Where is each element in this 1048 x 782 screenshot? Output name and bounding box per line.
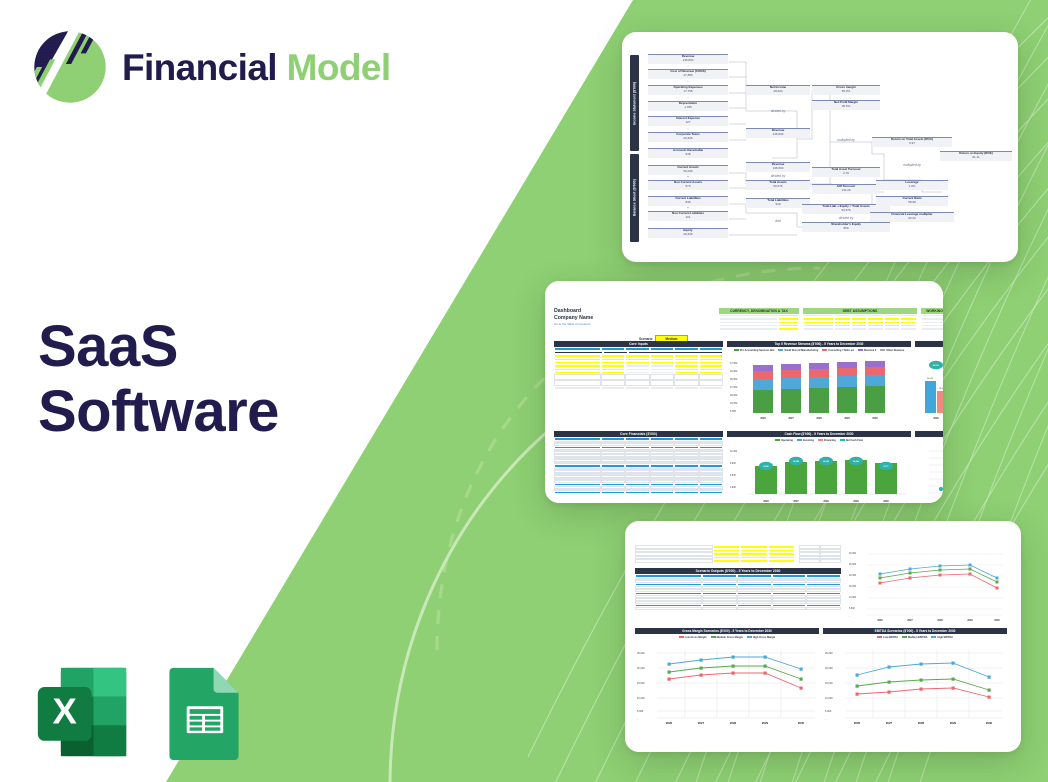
scenario-label: Scenario <box>639 337 652 341</box>
legend-item: Revenue 4 <box>858 349 877 352</box>
svg-text:-: - <box>730 416 731 419</box>
income-statement-band: Income Statement ($'000) <box>630 55 639 151</box>
operator-add: Add <box>746 219 810 223</box>
line-plot: 30,00025,00020,000 15,00010,0005,000- <box>847 545 1007 623</box>
operator-divided-by: divided by <box>746 109 810 113</box>
line-plot: 72,00057,00045,000 34,00022,00015,0005,0… <box>915 443 943 503</box>
svg-text:20,030: 20,030 <box>927 378 934 380</box>
dupont-node: Depreciation1,785 <box>648 101 728 111</box>
svg-text:5,000: 5,000 <box>730 410 737 413</box>
svg-text:2027: 2027 <box>886 721 893 725</box>
top-revenue-streams-chart: Top 5 Revenue Streams ($'000) - 5 Years … <box>727 341 911 427</box>
circle-bars-logo-icon <box>32 29 108 105</box>
dupont-node: Current Ratio58.98 <box>876 196 948 206</box>
dupont-node: Total Asset Turnover2.70 <box>812 167 880 177</box>
svg-text:-: - <box>730 493 731 495</box>
line-plot: 25,00020,00015,000 10,0005,000- <box>635 642 819 726</box>
scenario-body: Scenario Outputs ($'000) - 5 Years to De… <box>625 521 1021 752</box>
ebitda-scenarios-chart: EBITDA Scenarios ($'000) - 5 Years to De… <box>823 628 1007 728</box>
svg-text:3,000: 3,000 <box>730 487 736 489</box>
debt-assumptions-block: DEBT ASSUMPTIONS <box>803 308 917 331</box>
svg-text:20,000: 20,000 <box>849 575 857 577</box>
legend-item: Financing <box>818 439 836 442</box>
dupont-node: Return on Total Assets (ROA)0.97 <box>872 137 952 147</box>
svg-text:25,000: 25,000 <box>849 564 857 566</box>
legend-item: Medium EBITDA <box>902 636 927 639</box>
svg-text:27,000: 27,000 <box>730 386 738 389</box>
gross-margin-scenarios-chart: Gross Margin Scenarios ($'000) - 5 Years… <box>635 628 819 728</box>
svg-text:2027: 2027 <box>907 619 913 622</box>
svg-text:2026: 2026 <box>877 619 883 622</box>
page-title: SaaS Software <box>38 315 279 445</box>
headline-line-2: Software <box>38 380 279 445</box>
operator-minus: - <box>648 126 728 130</box>
svg-text:10,000: 10,000 <box>849 597 857 599</box>
svg-text:68.1%: 68.1% <box>933 365 939 367</box>
promo-banner: Financial Model SaaS Software X <box>0 0 1048 782</box>
operator-plus: + <box>648 175 728 179</box>
cash-flow-chart: Cash Flow ($'000) - 5 Years to December … <box>727 431 911 503</box>
investment-payback-chart: Investment Payback Chart ($'000) - 5 Yea… <box>915 431 943 503</box>
core-financials-panel: Core Financials ($'000) <box>554 431 723 494</box>
dashboard-company-name: Company Name <box>554 315 593 322</box>
assumptions-block: CURRENCY, DENOMINATION & TAX <box>719 308 799 331</box>
svg-text:15,000: 15,000 <box>849 586 857 588</box>
legend-item: Other Revenue <box>880 349 904 352</box>
operator-plus: + <box>648 206 728 210</box>
scenario-outputs-panel: Scenario Outputs ($'000) - 5 Years to De… <box>635 568 841 610</box>
svg-text:2027: 2027 <box>788 417 794 420</box>
svg-text:30,000: 30,000 <box>849 553 857 555</box>
svg-text:6,000: 6,000 <box>730 475 736 477</box>
microsoft-excel-icon: X <box>34 664 130 760</box>
legend-item: Medium Gross Margin <box>711 636 743 639</box>
dupont-node: Gross margin65.0% <box>812 85 880 95</box>
operator-divided-by: divided by <box>746 174 810 178</box>
svg-text:2030: 2030 <box>994 619 1000 622</box>
svg-text:2030: 2030 <box>872 417 878 420</box>
google-sheets-icon <box>156 664 252 760</box>
dashboard-title: Dashboard Company Name Go to the Table o… <box>554 308 593 326</box>
svg-text:2026: 2026 <box>763 500 769 503</box>
svg-text:2028: 2028 <box>823 500 829 503</box>
svg-text:47,000: 47,000 <box>730 362 738 365</box>
svg-text:2027: 2027 <box>793 500 799 503</box>
dupont-node: A/R Turnover144.26 <box>812 184 880 194</box>
operator-minus: - <box>648 79 728 83</box>
dupont-node: Total Liabilities949 <box>746 198 810 208</box>
svg-text:5,000: 5,000 <box>849 608 855 610</box>
dupont-node: Revenue136,800 <box>746 162 810 172</box>
scenario-active-column <box>799 545 841 563</box>
svg-text:10,000: 10,000 <box>853 461 860 463</box>
svg-text:2027: 2027 <box>698 721 705 725</box>
line-plot: 25,00020,00015,000 10,0005,000- <box>823 642 1007 726</box>
svg-text:2028: 2028 <box>937 619 943 622</box>
dupont-node: Current Liabilities848 <box>648 196 728 206</box>
dashboard-body: Dashboard Company Name Go to the Table o… <box>545 281 943 503</box>
dupont-node: Accounts Receivable948 <box>648 148 728 158</box>
financial-dashboard-screenshot[interactable]: Dashboard Company Name Go to the Table o… <box>545 281 943 503</box>
svg-text:2030: 2030 <box>883 500 889 503</box>
svg-text:-: - <box>849 616 850 618</box>
scenario-overview-chart: 30,00025,00020,000 15,00010,0005,000- <box>847 545 1007 623</box>
svg-text:40,000: 40,000 <box>730 370 738 373</box>
chart-legend: Payback year Cumulative Cash Invested (G… <box>915 437 943 441</box>
svg-text:9,000: 9,000 <box>730 463 736 465</box>
dupont-analysis-screenshot[interactable]: Income Statement ($'000) Balance Sheet (… <box>622 32 1018 262</box>
svg-text:20,000: 20,000 <box>637 667 645 670</box>
legend-item: Operating <box>775 439 793 442</box>
legend-item: Net Cash Flow <box>840 439 863 442</box>
svg-text:2030: 2030 <box>986 721 993 725</box>
profitability-chart: Profitability ($'000) - 5 Years to Decem… <box>915 341 943 427</box>
svg-text:2029: 2029 <box>762 721 769 725</box>
balance-sheet-band: Balance Sheet ($'000) <box>630 154 639 242</box>
dupont-node: Non Current Assets570 <box>648 180 728 190</box>
svg-text:12,000: 12,000 <box>730 451 738 453</box>
svg-text:25,000: 25,000 <box>825 652 833 655</box>
svg-text:15,000: 15,000 <box>825 682 833 685</box>
dupont-node: Financial Leverage multiplier63.22 <box>870 212 954 222</box>
operator-multiplied-by: multiplied by <box>872 163 952 167</box>
svg-text:2029: 2029 <box>967 619 973 622</box>
dupont-node: Equity49,629 <box>648 228 728 238</box>
bar-plot: 12,0009,0006,000 3,000-(12,000) <box>727 444 911 503</box>
svg-text:10,500: 10,500 <box>793 461 800 463</box>
svg-text:2028: 2028 <box>816 417 822 420</box>
legend-item: Low Gross Margin <box>679 636 707 639</box>
dupont-node: Corporate Taxes20,626 <box>648 132 728 142</box>
working-capital-block: WORKING CAPITAL & DEPRECIATION <box>921 308 943 331</box>
svg-text:2029: 2029 <box>853 500 859 503</box>
svg-text:2026: 2026 <box>666 721 673 725</box>
dupont-diagram: Income Statement ($'000) Balance Sheet (… <box>622 32 1018 262</box>
chart-legend: Low EBITDA Medium EBITDA High EBITDA <box>823 634 1007 638</box>
brand-wordmark: Financial Model <box>122 49 391 86</box>
brand-lockup: Financial Model <box>32 29 391 105</box>
chart-legend: Operating Investing Financing Net Cash F… <box>727 437 911 441</box>
legend-item: Consulting / Tailor-ed <box>822 349 854 352</box>
svg-text:20,000: 20,000 <box>825 667 833 670</box>
brand-word-financial: Financial <box>122 47 277 88</box>
svg-text:X: X <box>53 691 77 732</box>
svg-text:2026: 2026 <box>938 501 943 503</box>
legend-item: Pro Accounting Services $/m <box>734 349 775 352</box>
svg-text:35,000: 35,000 <box>730 378 738 381</box>
operator-minus: - <box>648 64 728 68</box>
legend-item: Small Record Manufacturing <box>778 349 818 352</box>
svg-text:9,777: 9,777 <box>883 466 889 468</box>
svg-text:2026: 2026 <box>933 417 939 420</box>
dupont-node: Return on Equity (ROE)61.11 <box>940 151 1012 161</box>
stacked-bar-plot: 47,00040,00035,000 27,00020,00015,000 5,… <box>727 357 911 425</box>
operator-minus: - <box>648 111 728 115</box>
svg-text:13,800: 13,800 <box>939 388 943 390</box>
dupont-node: Net Profit Margin35.5% <box>812 100 880 110</box>
legend-item: High EBITDA <box>931 636 953 639</box>
svg-text:2029: 2029 <box>844 417 850 420</box>
svg-text:-: - <box>825 718 826 721</box>
svg-text:5,000: 5,000 <box>825 710 832 713</box>
scenario-input-table <box>635 545 795 563</box>
svg-text:2030: 2030 <box>798 721 805 725</box>
svg-text:10,250: 10,250 <box>823 461 830 463</box>
scenario-analysis-screenshot[interactable]: Scenario Outputs ($'000) - 5 Years to De… <box>625 521 1021 752</box>
legend-item: Low EBITDA <box>877 636 898 639</box>
chart-legend: Pro Accounting Services $/m Small Record… <box>727 347 911 351</box>
supported-apps: X <box>34 664 252 760</box>
operator-minus: - <box>648 95 728 99</box>
dupont-node: Revenue136,800 <box>648 54 728 64</box>
dupont-node: Cost of Revenue (COGS)47,880 <box>648 69 728 79</box>
left-content-pane: Financial Model SaaS Software X <box>0 0 470 782</box>
svg-text:2026: 2026 <box>760 417 766 420</box>
dupont-node: Net Income48,624 <box>746 85 810 95</box>
brand-word-model: Model <box>287 47 391 88</box>
chart-legend: Low Gross Margin Medium Gross Margin Hig… <box>635 634 819 638</box>
dupont-node: Leverage1.9% <box>876 180 948 190</box>
svg-text:15,000: 15,000 <box>637 682 645 685</box>
toc-link[interactable]: Go to the Table of Contents <box>554 322 593 326</box>
svg-text:-: - <box>637 718 638 721</box>
legend-item: High Gross Margin <box>747 636 775 639</box>
dupont-node: Non Current Liabilities101 <box>648 211 728 221</box>
svg-text:2029: 2029 <box>950 721 957 725</box>
svg-text:8,000: 8,000 <box>763 466 769 468</box>
svg-text:2028: 2028 <box>918 721 925 725</box>
dupont-node: Interest Expense127 <box>648 116 728 126</box>
dupont-node: Total Assets50,576 <box>746 180 810 190</box>
dupont-node: Operating Expenses17,758 <box>648 85 728 95</box>
svg-text:2028: 2028 <box>730 721 737 725</box>
legend-item: Investing <box>797 439 814 442</box>
svg-text:20,000: 20,000 <box>730 394 738 397</box>
dupont-node: Shareholder's Equity869 <box>802 222 890 232</box>
operator-multiplied-by: multiplied by <box>812 138 880 142</box>
svg-text:2026: 2026 <box>854 721 861 725</box>
svg-text:5,000: 5,000 <box>637 710 644 713</box>
chart-legend: Revenue EBITDA EBITDA % <box>915 347 943 351</box>
headline-line-1: SaaS <box>38 315 279 380</box>
core-inputs-panel: Core Inputs <box>554 341 723 390</box>
svg-text:25,000: 25,000 <box>637 652 645 655</box>
svg-text:15,000: 15,000 <box>730 402 738 405</box>
dupont-node: Current Assets50,006 <box>648 165 728 175</box>
svg-text:10,000: 10,000 <box>637 697 645 700</box>
combo-plot: 68.1%71.2%67.6%64.0%55.3% 20,03013,800 2… <box>915 353 943 425</box>
svg-text:10,000: 10,000 <box>825 697 833 700</box>
dupont-node: Revenue136,800 <box>746 128 810 138</box>
